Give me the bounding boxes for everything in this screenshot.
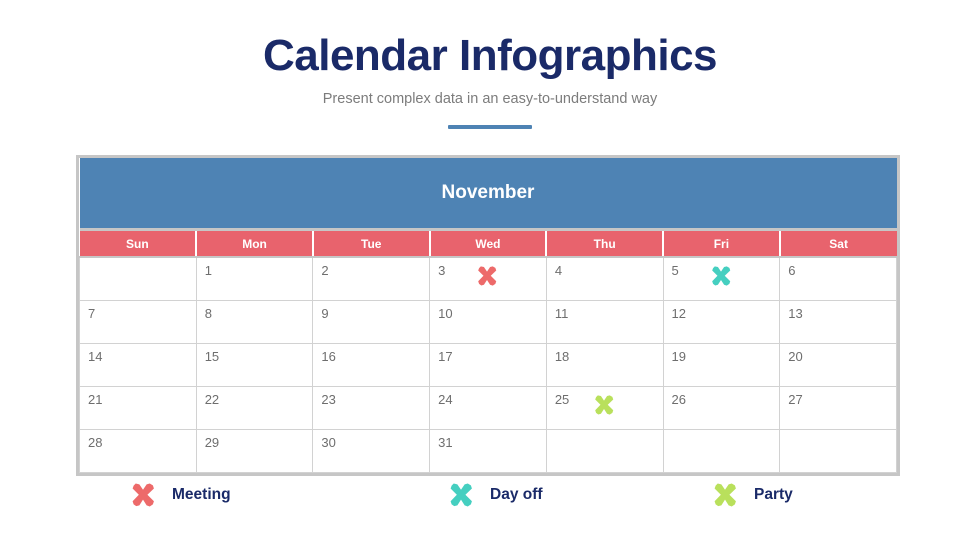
calendar-day-cell[interactable]: 9 — [313, 301, 430, 344]
calendar-week-row: 28293031 — [80, 430, 897, 473]
calendar-dow-mon: Mon — [196, 230, 313, 258]
calendar-week-row: 14151617181920 — [80, 344, 897, 387]
calendar-day-number: 18 — [555, 350, 569, 364]
calendar-day-number: 29 — [205, 436, 219, 450]
calendar-week-row: 78910111213 — [80, 301, 897, 344]
calendar-dow-fri: Fri — [663, 230, 780, 258]
calendar-table: November SunMonTueWedThuFriSat 123456789… — [79, 158, 897, 473]
calendar-day-number: 25 — [555, 393, 569, 407]
calendar-day-number: 23 — [321, 393, 335, 407]
calendar-empty-cell — [663, 430, 780, 473]
calendar-day-cell[interactable]: 19 — [663, 344, 780, 387]
calendar-day-number: 24 — [438, 393, 452, 407]
calendar-dow-thu: Thu — [546, 230, 663, 258]
legend-item-party: Party — [712, 482, 793, 508]
calendar-day-number: 15 — [205, 350, 219, 364]
calendar-dow-wed: Wed — [430, 230, 547, 258]
event-marker-day-off[interactable] — [710, 265, 732, 287]
calendar-day-number: 17 — [438, 350, 452, 364]
calendar-month-title: November — [80, 158, 897, 230]
calendar-day-cell[interactable]: 21 — [80, 387, 197, 430]
calendar-day-cell[interactable]: 30 — [313, 430, 430, 473]
calendar-day-number: 21 — [88, 393, 102, 407]
page-subtitle: Present complex data in an easy-to-under… — [0, 92, 980, 108]
calendar-day-cell[interactable]: 14 — [80, 344, 197, 387]
calendar-day-number: 28 — [88, 436, 102, 450]
calendar-day-cell[interactable]: 22 — [196, 387, 313, 430]
calendar-day-number: 1 — [205, 264, 212, 278]
calendar-day-number: 5 — [672, 264, 679, 278]
calendar-dow-row: SunMonTueWedThuFriSat — [80, 230, 897, 258]
calendar-day-cell[interactable]: 4 — [546, 257, 663, 301]
x-mark-icon — [130, 482, 156, 508]
event-marker-party[interactable] — [593, 394, 615, 416]
calendar-day-number: 20 — [788, 350, 802, 364]
calendar-day-number: 11 — [555, 307, 569, 321]
calendar-day-number: 9 — [321, 307, 328, 321]
calendar-day-cell[interactable]: 6 — [780, 257, 897, 301]
calendar-day-cell[interactable]: 28 — [80, 430, 197, 473]
legend-label: Party — [754, 486, 793, 504]
calendar-day-cell[interactable]: 17 — [430, 344, 547, 387]
calendar-day-cell[interactable]: 2 — [313, 257, 430, 301]
x-mark-icon — [712, 482, 738, 508]
calendar-week-row: 21222324252627 — [80, 387, 897, 430]
calendar-day-number: 10 — [438, 307, 452, 321]
calendar-day-number: 22 — [205, 393, 219, 407]
calendar-container: November SunMonTueWedThuFriSat 123456789… — [76, 155, 900, 476]
calendar-body: 1234567891011121314151617181920212223242… — [80, 257, 897, 473]
calendar-day-number: 13 — [788, 307, 802, 321]
calendar-day-cell[interactable]: 1 — [196, 257, 313, 301]
page-header: Calendar Infographics Present complex da… — [0, 0, 980, 129]
calendar-day-cell[interactable]: 24 — [430, 387, 547, 430]
calendar-day-cell[interactable]: 5 — [663, 257, 780, 301]
calendar-day-cell[interactable]: 10 — [430, 301, 547, 344]
calendar-day-number: 14 — [88, 350, 102, 364]
legend-item-meeting: Meeting — [130, 482, 231, 508]
calendar-day-cell[interactable]: 11 — [546, 301, 663, 344]
calendar-day-number: 6 — [788, 264, 795, 278]
calendar-day-number: 30 — [321, 436, 335, 450]
calendar-day-cell[interactable]: 18 — [546, 344, 663, 387]
calendar-day-cell[interactable]: 7 — [80, 301, 197, 344]
calendar-day-cell[interactable]: 29 — [196, 430, 313, 473]
calendar-day-number: 27 — [788, 393, 802, 407]
x-mark-icon — [448, 482, 474, 508]
accent-divider — [448, 125, 532, 129]
calendar-empty-cell — [780, 430, 897, 473]
calendar-day-cell[interactable]: 20 — [780, 344, 897, 387]
calendar-empty-cell — [546, 430, 663, 473]
calendar-day-number: 19 — [672, 350, 686, 364]
event-marker-meeting[interactable] — [476, 265, 498, 287]
calendar-day-cell[interactable]: 26 — [663, 387, 780, 430]
calendar-day-number: 12 — [672, 307, 686, 321]
legend-item-day-off: Day off — [448, 482, 543, 508]
calendar-day-cell[interactable]: 27 — [780, 387, 897, 430]
calendar-day-cell[interactable]: 8 — [196, 301, 313, 344]
calendar-month-row: November — [80, 158, 897, 230]
calendar-day-cell[interactable]: 31 — [430, 430, 547, 473]
page-title: Calendar Infographics — [0, 34, 980, 78]
calendar-day-number: 7 — [88, 307, 95, 321]
calendar-empty-cell — [80, 257, 197, 301]
calendar-dow-tue: Tue — [313, 230, 430, 258]
calendar-day-number: 4 — [555, 264, 562, 278]
calendar-day-cell[interactable]: 23 — [313, 387, 430, 430]
calendar-day-number: 8 — [205, 307, 212, 321]
legend: MeetingDay offParty — [76, 475, 900, 521]
legend-label: Meeting — [172, 486, 231, 504]
calendar-day-cell[interactable]: 13 — [780, 301, 897, 344]
calendar-dow-sat: Sat — [780, 230, 897, 258]
calendar-dow-sun: Sun — [80, 230, 197, 258]
calendar-day-cell[interactable]: 16 — [313, 344, 430, 387]
calendar-week-row: 123456 — [80, 257, 897, 301]
calendar-day-number: 31 — [438, 436, 452, 450]
calendar-day-number: 26 — [672, 393, 686, 407]
calendar-day-number: 16 — [321, 350, 335, 364]
calendar-day-cell[interactable]: 3 — [430, 257, 547, 301]
calendar-day-number: 2 — [321, 264, 328, 278]
calendar-day-number: 3 — [438, 264, 445, 278]
calendar-day-cell[interactable]: 12 — [663, 301, 780, 344]
calendar-day-cell[interactable]: 15 — [196, 344, 313, 387]
legend-label: Day off — [490, 486, 543, 504]
calendar-day-cell[interactable]: 25 — [546, 387, 663, 430]
